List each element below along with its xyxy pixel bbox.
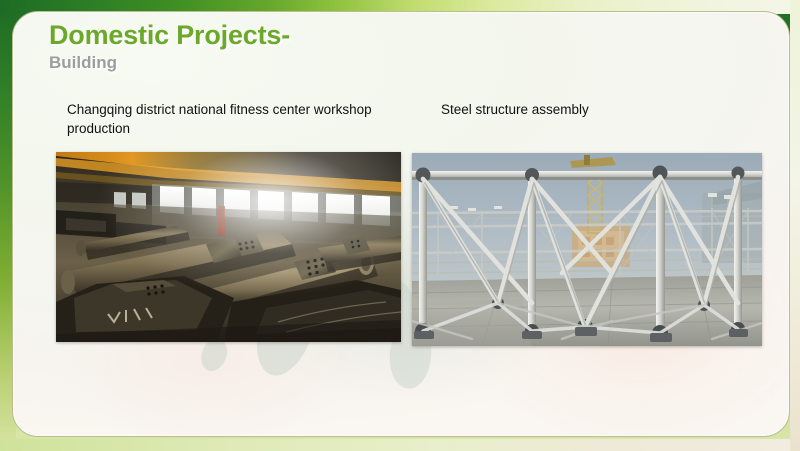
- workshop-steel-columns-photo: [56, 152, 401, 342]
- page-title: Domestic Projects-: [49, 20, 290, 50]
- caption-right: Steel structure assembly: [441, 100, 771, 119]
- caption-left: Changqing district national fitness cent…: [67, 100, 397, 138]
- steel-space-frame-assembly-photo: [412, 153, 762, 346]
- frame-right-gradient: [790, 0, 800, 451]
- page-subtitle: Building: [49, 52, 290, 74]
- frame-bottom-gradient: [0, 439, 800, 451]
- slide-canvas: Domestic Projects- Building Changqing di…: [0, 0, 800, 451]
- slide-content-card: Domestic Projects- Building Changqing di…: [12, 11, 790, 437]
- slide-title-block: Domestic Projects- Building: [49, 20, 290, 74]
